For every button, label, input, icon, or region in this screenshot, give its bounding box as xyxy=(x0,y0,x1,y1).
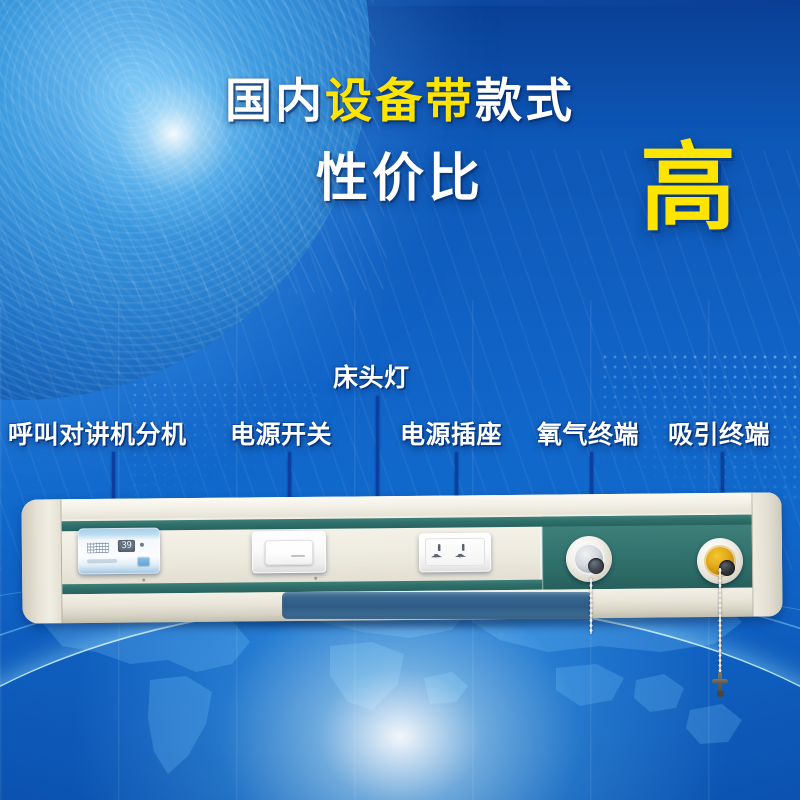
socket-face-plate xyxy=(425,538,485,567)
intercom-call-button[interactable] xyxy=(137,557,150,567)
callout-label-intercom: 呼叫对讲机分机 xyxy=(8,415,187,451)
callout-label-bed-lamp: 床头灯 xyxy=(333,358,410,394)
oxygen-terminal-ring xyxy=(573,543,605,575)
panel-rail-slot xyxy=(282,592,592,619)
callout-label-suction: 吸引终端 xyxy=(668,415,770,451)
oxygen-terminal-cord-beads xyxy=(588,578,594,634)
oxygen-terminal-outlet[interactable] xyxy=(566,536,612,582)
callout-label-oxygen: 氧气终端 xyxy=(537,415,639,451)
rocker-switch-button[interactable] xyxy=(265,540,313,566)
poster-canvas: 国内设备带款式 性价比 高 呼叫对讲机分机 电源开关 床头灯 电源插座 氧气终端… xyxy=(0,0,800,800)
oxygen-terminal-port[interactable] xyxy=(588,558,604,574)
handle-tip xyxy=(717,691,724,697)
handle-cross xyxy=(712,679,728,684)
rocker-indicator-mark xyxy=(291,555,305,557)
panel-screw xyxy=(142,578,145,581)
power-switch-device[interactable] xyxy=(252,531,326,574)
speaker-grille-icon xyxy=(87,542,109,553)
headline-line-1: 国内设备带款式 xyxy=(0,78,800,125)
callout-label-power-socket: 电源插座 xyxy=(400,415,502,451)
intercom-label-strip xyxy=(87,559,117,563)
power-socket-device[interactable] xyxy=(419,533,491,573)
pull-cord-handle[interactable] xyxy=(712,672,728,696)
panel-end-cap-left xyxy=(21,499,62,623)
callout-label-power-switch: 电源开关 xyxy=(230,415,332,451)
suction-pull-cord-beads xyxy=(717,568,723,676)
status-led-icon xyxy=(140,543,144,547)
headline-text-part2: 款式 xyxy=(475,74,575,129)
headline-text-highlight: 设备带 xyxy=(325,74,475,129)
socket-pin-holes-icon xyxy=(425,538,485,567)
headline-accent-word: 高 xyxy=(640,140,736,236)
headline-text-part1: 国内 xyxy=(225,74,325,129)
panel-screw xyxy=(314,577,317,580)
panel-end-cap-right xyxy=(751,492,782,616)
intercom-display: 39 xyxy=(118,540,135,552)
nurse-call-intercom-unit[interactable]: 39 xyxy=(78,528,160,575)
